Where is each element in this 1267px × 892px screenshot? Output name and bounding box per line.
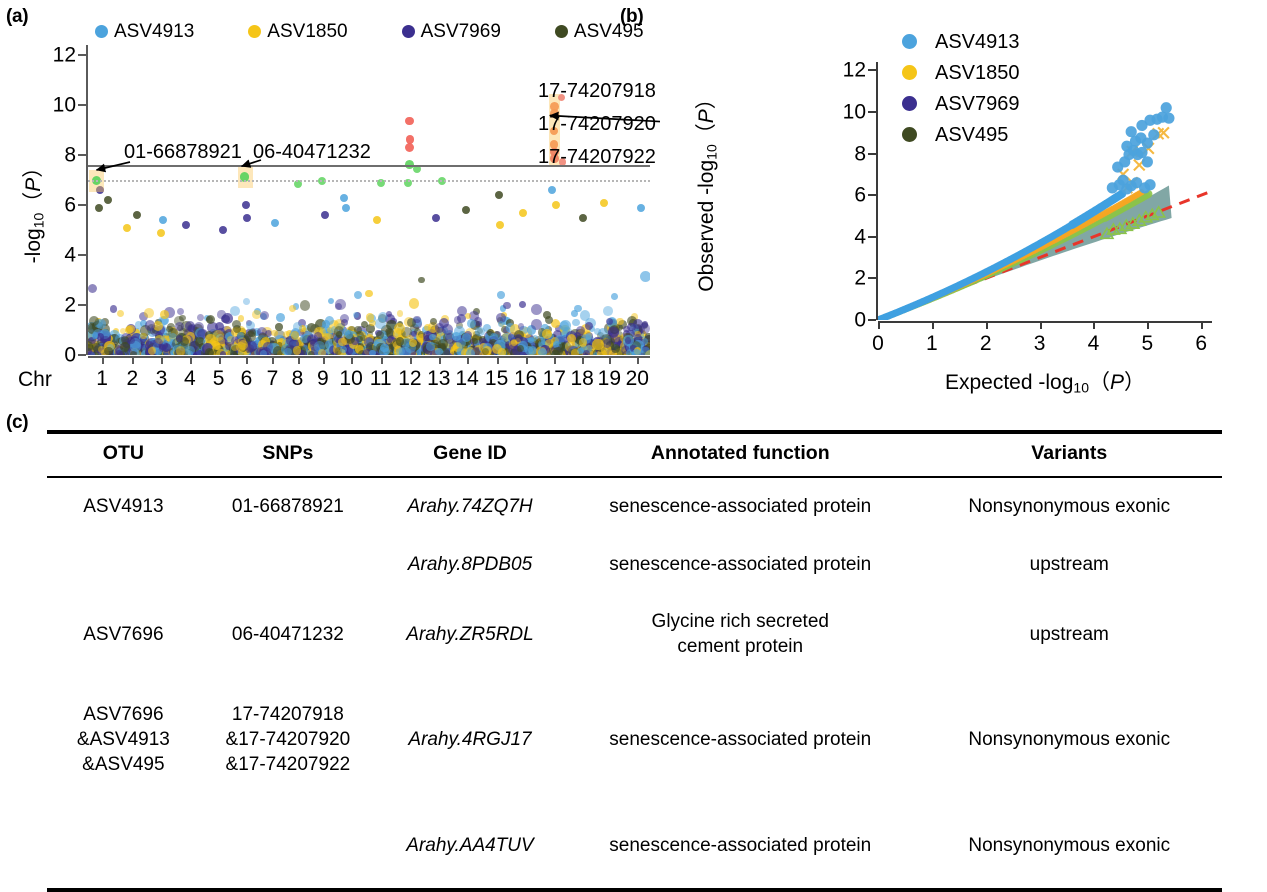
qq-point-asv4913-tail xyxy=(1148,129,1159,140)
qq-x-axis-label: Expected -log10（P） xyxy=(878,366,1212,396)
qq-x-label-prefix: Expected -log xyxy=(945,371,1073,394)
table-row: ASV491301-66878921Arahy.74ZQ7Hsenescence… xyxy=(47,477,1222,536)
manhattan-point-suggestive xyxy=(373,216,381,224)
manhattan-point-suggestive xyxy=(340,194,348,202)
manhattan-point xyxy=(345,330,353,338)
qq-point-asv4913-tail xyxy=(1161,102,1172,113)
manhattan-point xyxy=(89,316,99,326)
manhattan-point xyxy=(338,338,346,346)
manhattan-point xyxy=(467,319,476,328)
manhattan-point xyxy=(88,284,97,293)
manhattan-point xyxy=(531,304,542,315)
manhattan-x-tick-mark xyxy=(161,356,163,364)
qq-point-asv4913-tail xyxy=(1136,147,1147,158)
manhattan-point xyxy=(166,326,173,333)
manhattan-point-suggestive xyxy=(495,191,503,199)
manhattan-point-suggestive xyxy=(271,219,279,227)
table-cell-snps: 06-40471232 xyxy=(200,594,376,676)
qq-x-tick-mark xyxy=(1147,321,1149,329)
qq-x-label-subscript: 10 xyxy=(1073,380,1089,396)
panel-c-label: (c) xyxy=(6,412,28,434)
manhattan-point-suggestive xyxy=(133,211,141,219)
manhattan-point-suggestive xyxy=(242,201,250,209)
manhattan-point xyxy=(88,351,95,355)
manhattan-point xyxy=(126,325,135,334)
table-header-gene-id: Gene ID xyxy=(376,432,564,477)
manhattan-panel: (a) ASV4913ASV1850ASV7969ASV495 -log10（P… xyxy=(0,0,660,400)
manhattan-point xyxy=(110,305,118,313)
manhattan-point xyxy=(538,348,547,355)
qq-point-asv4913-tail xyxy=(1142,156,1153,167)
manhattan-x-tick-mark xyxy=(467,356,469,364)
manhattan-point xyxy=(243,298,250,305)
manhattan-point xyxy=(341,319,348,326)
manhattan-point-suggestive xyxy=(496,221,504,229)
manhattan-y-tick-label: 6 xyxy=(16,195,76,216)
manhattan-point xyxy=(503,302,511,310)
manhattan-legend: ASV4913ASV1850ASV7969ASV495 xyxy=(95,22,644,41)
table-row: ASV7696&ASV4913&ASV49517-74207918&17-742… xyxy=(47,676,1222,804)
manhattan-point xyxy=(176,346,186,355)
manhattan-point xyxy=(511,339,517,345)
qq-x-tick-label: 3 xyxy=(1034,333,1046,354)
table-cell-snps xyxy=(200,536,376,594)
chr-axis-word: Chr xyxy=(18,368,52,392)
manhattan-point xyxy=(399,347,410,355)
manhattan-legend-label: ASV1850 xyxy=(267,22,347,41)
qq-y-tick-mark xyxy=(868,194,876,196)
manhattan-point xyxy=(482,348,489,355)
manhattan-y-tick-mark xyxy=(78,304,86,306)
manhattan-point xyxy=(300,300,311,311)
qq-y-tick-label: 10 xyxy=(806,101,866,122)
manhattan-point xyxy=(237,332,243,338)
table-cell-snps: 17-74207918&17-74207920&17-74207922 xyxy=(200,676,376,804)
qq-x-label-p: P xyxy=(1110,371,1124,394)
qq-x-spine xyxy=(878,321,1212,323)
table-row: ASV769606-40471232Arahy.ZR5RDLGlycine ri… xyxy=(47,594,1222,676)
manhattan-point-suggestive xyxy=(159,216,167,224)
manhattan-point xyxy=(551,350,560,355)
manhattan-y-tick-mark xyxy=(78,354,86,356)
manhattan-point-suggestive xyxy=(157,229,165,237)
manhattan-y-tick-mark xyxy=(78,254,86,256)
table-cell-variants: Nonsynonymous exonic xyxy=(917,804,1223,890)
table-cell-line: ASV7696 xyxy=(47,702,200,727)
manhattan-point xyxy=(580,310,591,321)
chromosome-label-5: 5 xyxy=(213,368,225,389)
manhattan-x-tick-mark xyxy=(190,356,192,364)
qq-y-label-p: P xyxy=(695,109,718,123)
manhattan-point xyxy=(115,350,123,355)
manhattan-legend-item-asv4913: ASV4913 xyxy=(95,22,194,41)
manhattan-x-tick-mark xyxy=(439,356,441,364)
table-cell-snps: 01-66878921 xyxy=(200,477,376,536)
chromosome-label-10: 10 xyxy=(339,368,362,389)
qq-x-tick-mark xyxy=(932,321,934,329)
manhattan-point xyxy=(376,331,384,339)
table-cell-function: senescence-associated protein xyxy=(564,477,917,536)
manhattan-x-tick-mark xyxy=(246,356,248,364)
manhattan-point xyxy=(117,310,124,317)
manhattan-x-tick-mark xyxy=(102,356,104,364)
table-row: Arahy.AA4TUVsenescence-associated protei… xyxy=(47,804,1222,890)
manhattan-y-tick-label: 10 xyxy=(16,95,76,116)
manhattan-point xyxy=(426,342,434,350)
manhattan-y-tick-label: 12 xyxy=(16,45,76,66)
table-header-annotated-function: Annotated function xyxy=(564,432,917,477)
manhattan-point xyxy=(438,339,448,349)
chromosome-label-13: 13 xyxy=(427,368,450,389)
manhattan-point xyxy=(542,329,552,339)
manhattan-point xyxy=(328,298,334,304)
table-header-row: OTUSNPsGene IDAnnotated functionVariants xyxy=(47,432,1222,477)
qq-y-tick-mark xyxy=(868,277,876,279)
manhattan-point xyxy=(340,346,347,353)
table-cell-snps xyxy=(200,804,376,890)
manhattan-point xyxy=(375,318,386,329)
qq-y-axis: 024681012 xyxy=(800,62,880,320)
manhattan-y-tick-label: 4 xyxy=(16,245,76,266)
qq-x-tick-mark xyxy=(1040,321,1042,329)
table-cell-gene: Arahy.4RGJ17 xyxy=(376,676,564,804)
chromosome-label-18: 18 xyxy=(570,368,593,389)
qq-point-asv4913-tail xyxy=(1144,179,1155,190)
manhattan-legend-item-asv7969: ASV7969 xyxy=(402,22,501,41)
manhattan-point xyxy=(144,308,154,318)
manhattan-point xyxy=(418,277,424,283)
table-header-snps: SNPs xyxy=(200,432,376,477)
manhattan-point xyxy=(145,320,155,330)
qq-y-tick-mark xyxy=(868,153,876,155)
qq-y-tick-mark xyxy=(868,236,876,238)
table-cell-variants: upstream xyxy=(917,536,1223,594)
qq-x-tick-label: 1 xyxy=(926,333,938,354)
manhattan-point-suggestive xyxy=(219,226,227,234)
table-row: Arahy.8PDB05senescence-associated protei… xyxy=(47,536,1222,594)
qq-x-tick-mark xyxy=(1093,321,1095,329)
qq-x-tick-label: 2 xyxy=(980,333,992,354)
table-cell-line: &ASV4913 xyxy=(47,727,200,752)
table-cell-gene: Arahy.8PDB05 xyxy=(376,536,564,594)
manhattan-point-suggestive xyxy=(95,204,103,212)
chromosome-label-9: 9 xyxy=(317,368,329,389)
table-cell-otu xyxy=(47,536,200,594)
table-cell-otu: ASV7696 xyxy=(47,594,200,676)
qq-y-paren-open: （ xyxy=(695,123,718,144)
manhattan-point xyxy=(498,321,504,327)
table-header-otu: OTU xyxy=(47,432,200,477)
qq-y-label-prefix: Observed -log xyxy=(695,160,718,292)
manhattan-point-significant xyxy=(405,117,413,125)
manhattan-point-suggestive xyxy=(432,214,440,222)
manhattan-point xyxy=(592,339,603,350)
qq-legend-item-asv4913: ASV4913 xyxy=(902,26,1020,57)
table-cell-function: senescence-associated protein xyxy=(564,804,917,890)
snp-annotation-01-66878921: 01-66878921 xyxy=(124,141,242,163)
panel-a-label: (a) xyxy=(6,6,28,28)
gene-annotation-table-wrapper: OTUSNPsGene IDAnnotated functionVariants… xyxy=(47,430,1222,892)
manhattan-point xyxy=(221,315,229,323)
table-header-variants: Variants xyxy=(917,432,1223,477)
qq-y-tick-label: 0 xyxy=(806,310,866,331)
qq-y-tick-mark xyxy=(868,111,876,113)
chromosome-label-16: 16 xyxy=(514,368,537,389)
qq-y-label-subscript: 10 xyxy=(704,144,720,160)
table-cell-line: &17-74207920 xyxy=(200,727,376,752)
qq-x-paren-open: （ xyxy=(1089,371,1110,394)
qq-x-tick-mark xyxy=(1201,321,1203,329)
qq-y-tick-label: 8 xyxy=(806,143,866,164)
manhattan-point xyxy=(92,332,98,338)
manhattan-y-tick-label: 0 xyxy=(16,345,76,366)
manhattan-point xyxy=(354,291,362,299)
legend-dot-icon xyxy=(902,34,917,49)
table-cell-otu: ASV4913 xyxy=(47,477,200,536)
manhattan-point xyxy=(353,312,359,318)
qq-x-paren-close: ） xyxy=(1124,371,1145,394)
table-cell-otu xyxy=(47,804,200,890)
manhattan-point-suggestive xyxy=(342,204,350,212)
legend-dot-icon xyxy=(95,25,108,38)
table-cell-otu: ASV7696&ASV4913&ASV495 xyxy=(47,676,200,804)
manhattan-point-suggestive xyxy=(182,221,190,229)
manhattan-point-suggestive xyxy=(321,211,329,219)
manhattan-point xyxy=(160,310,169,319)
manhattan-x-tick-mark xyxy=(323,356,325,364)
table-cell-line: &ASV495 xyxy=(47,752,200,777)
manhattan-point xyxy=(291,331,300,340)
manhattan-point-suggestive xyxy=(519,209,527,217)
qq-y-tick-label: 12 xyxy=(806,60,866,81)
table-body: ASV491301-66878921Arahy.74ZQ7Hsenescence… xyxy=(47,477,1222,890)
manhattan-point xyxy=(284,348,292,355)
chromosome-label-3: 3 xyxy=(156,368,168,389)
manhattan-point xyxy=(230,306,240,316)
chromosome-label-7: 7 xyxy=(267,368,279,389)
manhattan-point-significant xyxy=(405,143,414,152)
table-cell-function: Glycine rich secreted cement protein xyxy=(564,594,917,676)
manhattan-x-tick-mark xyxy=(219,356,221,364)
legend-dot-icon xyxy=(555,25,568,38)
chromosome-label-6: 6 xyxy=(241,368,253,389)
manhattan-x-tick-mark xyxy=(582,356,584,364)
manhattan-point xyxy=(220,351,227,355)
manhattan-point xyxy=(466,349,475,355)
chromosome-label-2: 2 xyxy=(126,368,138,389)
qq-legend-label: ASV4913 xyxy=(935,32,1020,52)
manhattan-point xyxy=(130,351,137,355)
manhattan-point-suggestive xyxy=(104,196,112,204)
qq-x-tick-label: 0 xyxy=(872,333,884,354)
qq-y-tick-label: 2 xyxy=(806,268,866,289)
manhattan-y-tick-mark xyxy=(78,154,86,156)
manhattan-point-suggestive xyxy=(243,214,251,222)
manhattan-x-tick-mark xyxy=(272,356,274,364)
manhattan-point xyxy=(153,338,163,348)
manhattan-point xyxy=(571,349,579,355)
manhattan-point xyxy=(365,290,373,298)
manhattan-point xyxy=(213,330,224,341)
table-cell-gene: Arahy.74ZQ7H xyxy=(376,477,564,536)
manhattan-point xyxy=(583,350,590,355)
manhattan-x-tick-mark xyxy=(497,356,499,364)
manhattan-x-tick-mark xyxy=(298,356,300,364)
manhattan-point xyxy=(396,337,404,345)
qq-y-tick-label: 6 xyxy=(806,185,866,206)
manhattan-point xyxy=(177,308,184,315)
manhattan-point xyxy=(519,301,526,308)
chromosome-label-12: 12 xyxy=(398,368,421,389)
legend-dot-icon xyxy=(248,25,261,38)
manhattan-point xyxy=(148,347,156,355)
manhattan-point-suggestive xyxy=(600,199,608,207)
qq-y-tick-mark xyxy=(868,69,876,71)
manhattan-point xyxy=(397,310,403,316)
manhattan-y-tick-label: 2 xyxy=(16,295,76,316)
manhattan-point xyxy=(429,334,436,341)
manhattan-x-tick-mark xyxy=(351,356,353,364)
manhattan-point xyxy=(260,350,267,355)
qq-y-paren-close: ） xyxy=(695,88,718,109)
manhattan-point xyxy=(293,346,302,355)
manhattan-point-suggestive xyxy=(462,206,470,214)
manhattan-y-tick-mark xyxy=(78,204,86,206)
legend-dot-icon xyxy=(402,25,415,38)
table-cell-variants: Nonsynonymous exonic xyxy=(917,676,1223,804)
manhattan-point xyxy=(492,344,502,354)
manhattan-point xyxy=(409,298,420,309)
table-cell-line: 17-74207918 xyxy=(200,702,376,727)
manhattan-y-axis: 024681012 xyxy=(20,45,90,355)
table-head: OTUSNPsGene IDAnnotated functionVariants xyxy=(47,432,1222,477)
manhattan-y-tick-label: 8 xyxy=(16,145,76,166)
manhattan-y-tick-mark xyxy=(78,54,86,56)
table-cell-function: senescence-associated protein xyxy=(564,536,917,594)
manhattan-point xyxy=(336,331,342,337)
manhattan-point xyxy=(185,346,195,355)
manhattan-point xyxy=(572,319,580,327)
manhattan-point xyxy=(454,316,461,323)
table-cell-line: &17-74207922 xyxy=(200,752,376,777)
chromosome-label-1: 1 xyxy=(96,368,108,389)
table-cell-gene: Arahy.AA4TUV xyxy=(376,804,564,890)
chromosome-label-14: 14 xyxy=(455,368,478,389)
qq-x-tick-label: 6 xyxy=(1195,333,1207,354)
manhattan-x-spine xyxy=(88,356,650,358)
qq-panel: (b) ASV4913ASV1850ASV7969ASV495 Observed… xyxy=(610,0,1267,400)
manhattan-legend-item-asv1850: ASV1850 xyxy=(248,22,347,41)
manhattan-point xyxy=(457,306,467,316)
manhattan-point xyxy=(276,313,285,322)
manhattan-point xyxy=(289,305,296,312)
qq-y-tick-mark xyxy=(868,319,876,321)
gene-annotation-table: OTUSNPsGene IDAnnotated functionVariants… xyxy=(47,430,1222,892)
qq-point-asv4913-tail xyxy=(1163,113,1174,124)
qq-plot-area xyxy=(878,62,1212,320)
table-cell-function: senescence-associated protein xyxy=(564,676,917,804)
manhattan-point xyxy=(369,350,376,355)
qq-y-axis-label: Observed -log10（P） xyxy=(690,60,720,320)
qq-x-tick-label: 5 xyxy=(1142,333,1154,354)
manhattan-x-tick-mark xyxy=(554,356,556,364)
manhattan-point-suggestive xyxy=(548,186,556,194)
manhattan-point-suggestive xyxy=(123,224,131,232)
qq-x-tick-label: 4 xyxy=(1088,333,1100,354)
manhattan-point xyxy=(318,349,326,355)
qq-x-tick-mark xyxy=(986,321,988,329)
manhattan-point xyxy=(579,338,587,346)
manhattan-x-tick-mark xyxy=(381,356,383,364)
manhattan-point xyxy=(497,291,505,299)
manhattan-point xyxy=(260,311,269,320)
table-cell-variants: Nonsynonymous exonic xyxy=(917,477,1223,536)
significance-threshold-line-dotted xyxy=(88,180,650,182)
table-cell-gene: Arahy.ZR5RDL xyxy=(376,594,564,676)
manhattan-x-tick-mark xyxy=(410,356,412,364)
manhattan-legend-label: ASV7969 xyxy=(421,22,501,41)
manhattan-x-tick-mark xyxy=(526,356,528,364)
qq-y-tick-label: 4 xyxy=(806,226,866,247)
qq-x-tick-mark xyxy=(878,321,880,329)
manhattan-point xyxy=(435,348,442,355)
manhattan-point xyxy=(560,320,571,331)
manhattan-point-suggestive xyxy=(579,214,587,222)
manhattan-point-suggestive xyxy=(552,201,560,209)
chromosome-label-11: 11 xyxy=(370,368,392,389)
manhattan-y-tick-mark xyxy=(78,104,86,106)
manhattan-point xyxy=(518,323,524,329)
manhattan-point xyxy=(380,344,388,352)
snp-annotation-06-40471232: 06-40471232 xyxy=(253,141,371,163)
manhattan-x-tick-mark xyxy=(132,356,134,364)
manhattan-point xyxy=(525,346,534,355)
chromosome-label-15: 15 xyxy=(485,368,508,389)
manhattan-point xyxy=(386,311,392,317)
manhattan-point xyxy=(104,347,112,355)
manhattan-legend-label: ASV4913 xyxy=(114,22,194,41)
chromosome-label-4: 4 xyxy=(184,368,196,389)
chromosome-label-8: 8 xyxy=(292,368,304,389)
table-cell-variants: upstream xyxy=(917,594,1223,676)
manhattan-point xyxy=(335,299,346,310)
chromosome-label-17: 17 xyxy=(543,368,566,389)
qq-point-asv4913-tail xyxy=(1126,126,1137,137)
panel-b-label: (b) xyxy=(620,6,643,28)
gene-table-panel: (c) OTUSNPsGene IDAnnotated functionVari… xyxy=(0,400,1267,839)
qq-plot-svg xyxy=(878,62,1212,320)
